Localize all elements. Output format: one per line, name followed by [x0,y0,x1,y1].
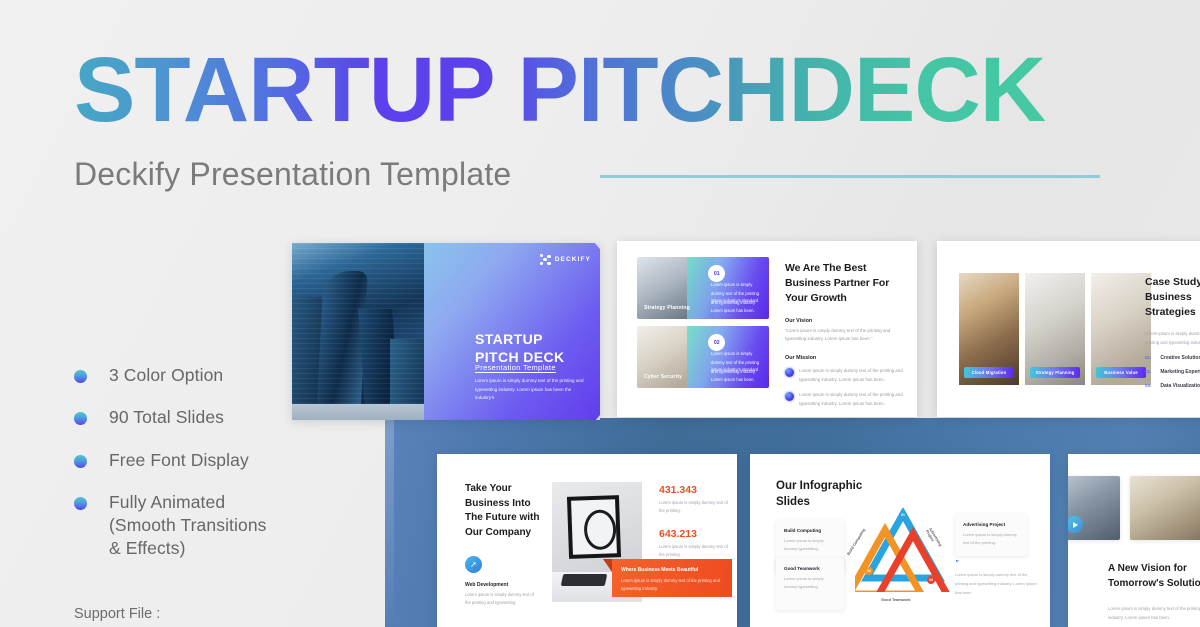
slide-thumbnail-case-study[interactable]: Cloud Migration Strategy Planning Busine… [937,241,1200,417]
slide5-right-card-title: Advertising Project [963,522,1019,527]
feature-label: Free Font Display [109,449,249,472]
feature-label: 90 Total Slides [109,406,224,429]
slide4-stat-text-1: Lorem ipsum is simply dummy text of the … [659,499,731,516]
slide2-mission-label: Our Mission [785,355,903,361]
slide-thumbnail-infographic[interactable]: Our Infographic Slides Build Computing L… [750,454,1050,627]
slide3-item-number-2: 02. [1145,369,1151,374]
slide4-heading: Take Your Business Into The Future with … [465,482,545,540]
slide1-title: STARTUP PITCH DECK [475,331,565,366]
slide5-right-card: Advertising Project Lorem ipsum is simpl… [955,514,1027,556]
slide2-vision-label: Our Vision [785,318,903,324]
slide1-subtitle: Presentation Template [475,363,556,372]
slide3-item-label-1: Creative Solution [1160,355,1200,361]
deckify-logo: DECKIFY [540,254,591,265]
slide-thumbnail-business-partner[interactable]: 01 Strategy Planning Lorem ipsum is simp… [617,241,917,417]
slide2-mission-text-1: Lorem ipsum is simply dummy text of the … [799,367,903,385]
support-file-label: Support File : [74,606,160,622]
slide-thumbnail-take-your-business[interactable]: Take Your Business Into The Future with … [437,454,737,627]
slide5-quote: ” Lorem ipsum is simply dummy text of th… [955,560,1037,597]
slide3-item-label-3: Data Visualization [1160,383,1200,389]
slide4-stat-text-2: Lorem ipsum is simply dummy text of the … [659,543,731,560]
page-title: STARTUP PITCHDECK [74,44,1045,136]
list-item: Fully Animated (Smooth Transitions & Eff… [74,491,374,561]
slide5-quote-text: Lorem ipsum is simply dummy text of the … [955,571,1037,597]
list-item: 02. Marketing Experts [1145,369,1200,375]
slide4-stat-value-1: 431.343 [659,484,731,496]
list-item: 03. Data Visualization [1145,383,1200,389]
deckify-logo-text: DECKIFY [555,256,591,263]
slide3-heading: Case Study In Business Strategies [1145,275,1200,321]
list-item: Free Font Display [74,449,374,472]
slide5-heading: Our Infographic Slides [776,478,886,510]
slide4-callout-heading: Where Business Meets Beautiful [621,567,698,573]
slide5-badge-2: 02 [865,567,873,575]
bullet-icon [74,412,87,425]
slide3-item-number-3: 03. [1145,383,1151,388]
page-subtitle: Deckify Presentation Template [74,156,511,193]
slide3-item-label-2: Marketing Experts [1160,369,1200,375]
slide-thumbnail-new-vision[interactable]: A New Vision for Tomorrow's Solutions Lo… [1068,454,1200,627]
quote-icon: ” [955,560,1037,567]
slide5-triangle-label-bottom: Good Teamwork [881,598,910,602]
slide6-photo-2 [1130,476,1200,540]
slide5-badge-1: 01 [899,511,907,519]
slide5-left-card-text-1: Lorem ipsum is simply dummy typesetting. [784,537,836,554]
slide5-left-card-2: Good Teamwork Lorem ipsum is simply dumm… [776,558,844,610]
check-icon [785,368,794,377]
slide4-callout-text: Lorem ipsum is simply dummy text of the … [621,577,721,594]
slide5-badge-3: 03 [927,576,935,584]
slide3-tag-2: Strategy Planning [1030,367,1080,378]
slide2-heading: We Are The Best Business Partner For You… [785,261,903,307]
slide2-text2-1: ipsum industry's standard [711,298,764,303]
slide1-body: Lorem ipsum is simply dummy text of the … [475,377,587,403]
slide2-card-1: 01 Strategy Planning Lorem ipsum is simp… [637,257,769,319]
slide4-icon-label: Web Development [465,582,508,588]
slide2-vision-text: "Lorem ipsum is simply dummy text of the… [785,327,903,345]
slide3-body: Lorem ipsum is simply dummy text of the … [1145,329,1200,347]
list-item: 01. Creative Solution [1145,355,1200,361]
slide2-caption-1: Strategy Planning [644,305,690,311]
slide3-column-3: Business Value [1091,273,1151,385]
slide3-tag-1: Cloud Migration [964,367,1014,378]
list-item: Lorem ipsum is simply dummy text of the … [785,367,903,385]
feature-label: Fully Animated (Smooth Transitions & Eff… [109,491,267,561]
slide-thumbnail-title[interactable]: DECKIFY STARTUP PITCH DECK Presentation … [292,243,600,420]
rocket-icon: ➚ [465,556,482,573]
slide6-heading: A New Vision for Tomorrow's Solutions [1108,562,1200,591]
slide3-tag-3: Business Value [1096,367,1146,378]
slide4-stat-value-2: 643.213 [659,528,731,540]
feature-label: 3 Color Option [109,364,223,387]
check-icon [785,392,794,401]
slide2-caption-2: Cyber Security [644,374,682,380]
slide5-left-card-text-2: Lorem ipsum is simply dummy typesetting. [784,575,836,592]
slide2-mission-text-2: Lorem ipsum is simply dummy text of the … [799,391,903,409]
slide1-building-photo [292,243,424,420]
slide3-item-number-1: 01. [1145,355,1151,360]
bullet-icon [74,455,87,468]
bullet-icon [74,370,87,383]
slide3-column-1: Cloud Migration [959,273,1019,385]
slide5-right-card-text: Lorem ipsum is simply dummy text of the … [963,531,1019,548]
slide2-text2-2: ipsum industry's standard [711,367,764,372]
slide1-title-line1: STARTUP [475,331,565,349]
subtitle-divider [600,175,1100,178]
deckify-mark-icon [540,254,551,265]
slide5-left-card-title-1: Build Computing [784,528,836,533]
slide3-column-2: Strategy Planning [1025,273,1085,385]
slide2-card-2: 02 Cyber Security Lorem ipsum is simply … [637,326,769,388]
slide5-left-card-title-2: Good Teamwork [784,566,836,571]
slide4-icon-text: Lorem ipsum is simply dummy text of the … [465,591,535,608]
list-item: Lorem ipsum is simply dummy text of the … [785,391,903,409]
bullet-icon [74,497,87,510]
slide4-callout: Where Business Meets Beautiful Lorem ips… [612,559,732,597]
slide5-triangle-diagram: 01 02 03 Build Computing Advertising Pro… [855,508,951,592]
slide6-body: Lorem ipsum is simply dummy text of the … [1108,604,1200,622]
